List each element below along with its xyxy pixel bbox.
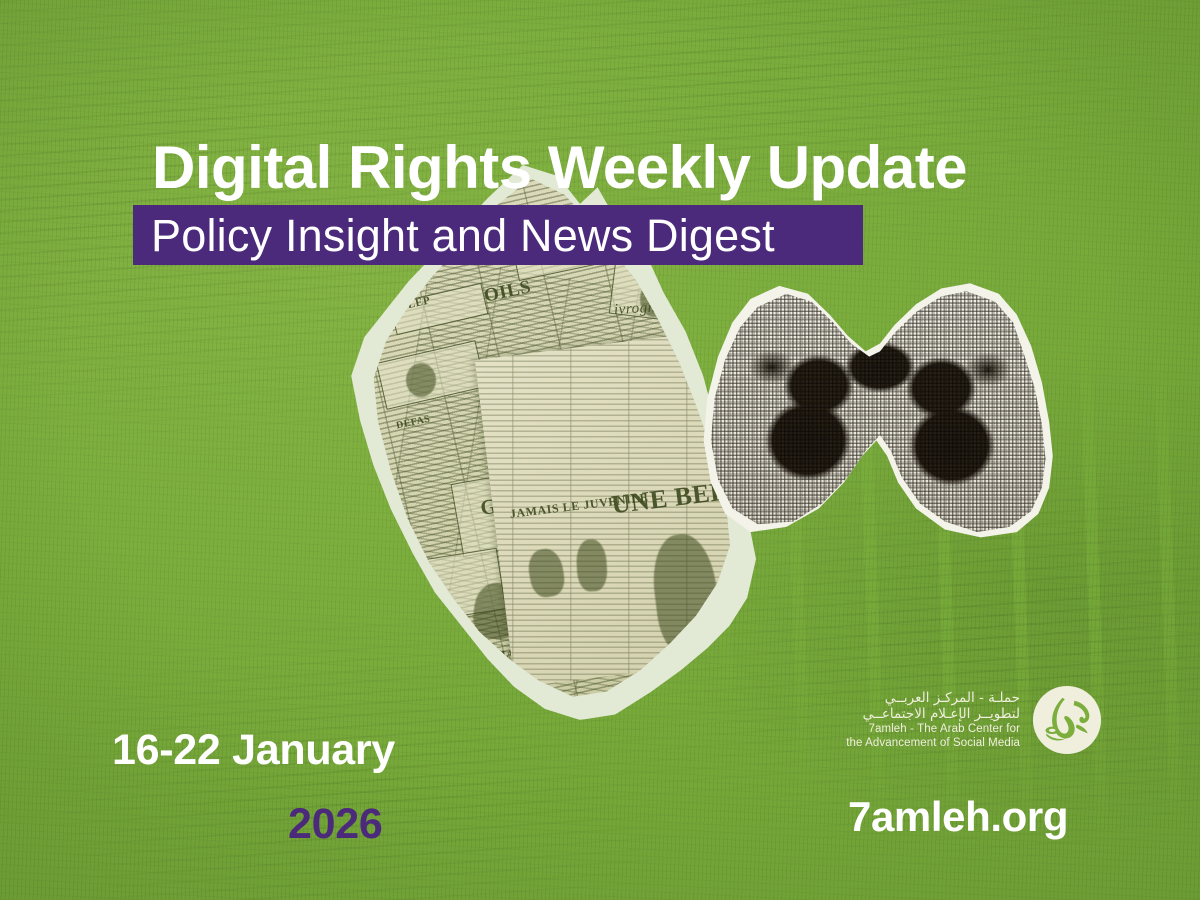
subtitle-text: Policy Insight and News Digest — [151, 213, 775, 258]
binoculars-halftone-collage — [700, 278, 1060, 540]
date-range-label: 16-22 January — [112, 726, 395, 775]
logo-english-line-1: 7amleh - The Arab Center for — [842, 722, 1020, 736]
poster-canvas: OILS ivrognerie guérie EPILEP GRATIS SEC… — [0, 0, 1200, 900]
seven-amleh-logo-icon — [1030, 683, 1104, 757]
logo-arabic-line-1: حملـة - المركـز العربــي — [842, 690, 1020, 706]
halftone-screen-fine — [700, 278, 1060, 540]
page-title: Digital Rights Weekly Update — [152, 136, 1072, 199]
logo-english-line-2: the Advancement of Social Media — [842, 736, 1020, 750]
hands-with-binoculars-image — [700, 278, 1060, 540]
website-url-label: 7amleh.org — [848, 793, 1068, 841]
organization-logo-lockup: حملـة - المركـز العربــي لتطويــر الإعـل… — [842, 676, 1104, 764]
logo-arabic-line-2: لتطويــر الإعـلام الاجتماعــي — [842, 706, 1020, 722]
logo-text-block: حملـة - المركـز العربــي لتطويــر الإعـل… — [842, 690, 1020, 751]
date-year-label: 2026 — [288, 800, 382, 849]
engraving-figure — [406, 363, 436, 397]
subtitle-banner: Policy Insight and News Digest — [133, 205, 863, 265]
